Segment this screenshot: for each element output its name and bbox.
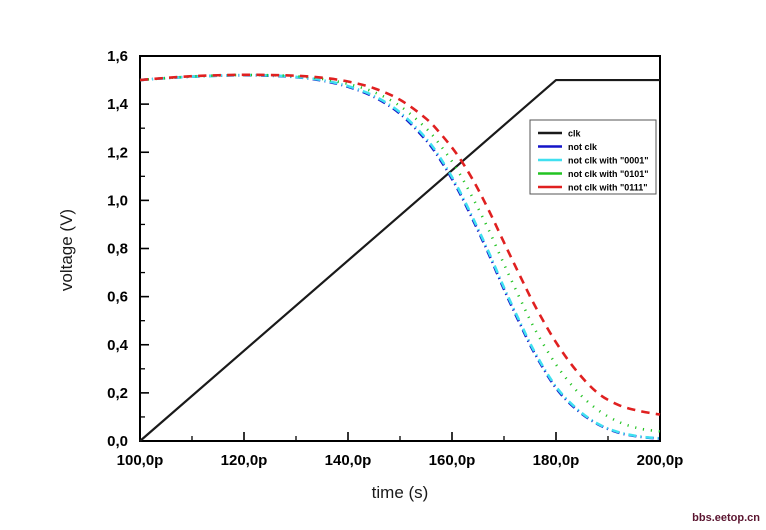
x-axis-ticks [140,432,660,441]
plot-frame [140,56,660,441]
y-axis-tick-labels: 0,00,20,40,60,81,01,21,41,6 [107,48,129,450]
legend-label: not clk [568,142,598,152]
y-tick-label: 1,4 [107,96,129,113]
y-tick-label: 0,4 [107,337,129,354]
x-axis-tick-labels: 100,0p120,0p140,0p160,0p180,0p200,0p [117,452,684,469]
legend-label: not clk with "0101" [568,169,649,179]
y-tick-label: 1,2 [107,144,128,161]
y-tick-label: 0,6 [107,289,128,306]
y-tick-label: 0,0 [107,433,128,450]
chart-stage: 100,0p120,0p140,0p160,0p180,0p200,0p 0,0… [0,0,766,530]
y-tick-label: 0,8 [107,241,128,258]
x-tick-label: 100,0p [117,452,164,469]
legend-label: not clk with "0001" [568,156,649,166]
legend-label: not clk with "0111" [568,183,648,193]
x-tick-label: 120,0p [221,452,268,469]
x-axis-title: time (s) [372,483,429,502]
x-tick-label: 200,0p [637,452,684,469]
y-tick-label: 0,2 [107,385,128,402]
x-tick-label: 180,0p [533,452,580,469]
y-axis-ticks [140,56,149,441]
y-tick-label: 1,6 [107,48,128,65]
watermark-text: bbs.eetop.cn [692,512,760,524]
legend-label: clk [568,129,582,139]
chart-legend: clknot clknot clk with "0001"not clk wit… [530,120,656,194]
x-tick-label: 160,0p [429,452,476,469]
x-tick-label: 140,0p [325,452,372,469]
y-axis-title: voltage (V) [57,209,76,291]
y-tick-label: 1,0 [107,192,128,209]
voltage-vs-time-chart: 100,0p120,0p140,0p160,0p180,0p200,0p 0,0… [0,0,766,530]
